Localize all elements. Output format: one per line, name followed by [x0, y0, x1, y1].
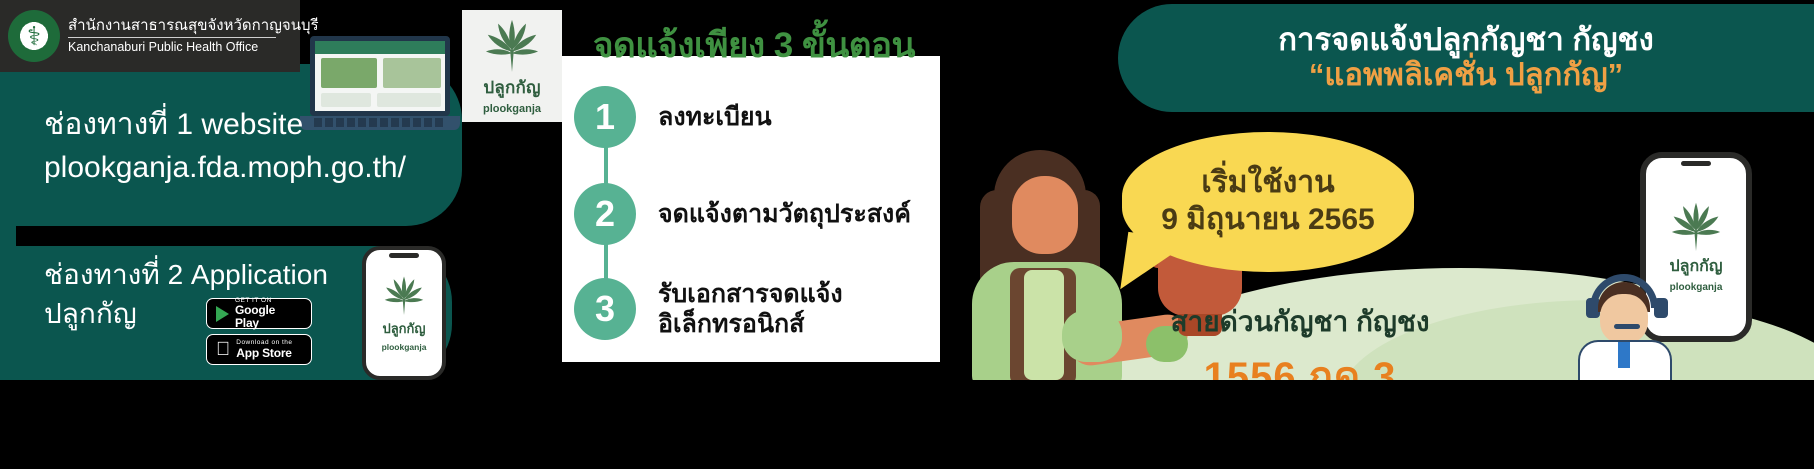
step-label-3-line-1: รับเอกสารจดแจ้ง	[658, 279, 843, 310]
laptop-webpage	[315, 41, 445, 111]
app-logo-en: plookganja	[382, 342, 427, 352]
channel-1-text: ช่องทางที่ 1 website plookganja.fda.moph…	[44, 104, 444, 189]
logo-label-th: ปลูกกัญ	[483, 74, 540, 101]
bubble-line-2: 9 มิถุนายน 2565	[1161, 202, 1374, 239]
person-shirt	[1024, 270, 1064, 380]
google-play-icon	[216, 306, 229, 322]
step-row-1: 1 ลงทะเบียน	[574, 86, 772, 148]
step-connector-2	[604, 243, 608, 281]
step-label-3-line-2: อิเล็กทรอนิกส์	[658, 309, 843, 340]
step-label-3: รับเอกสารจดแจ้ง อิเล็กทรอนิกส์	[658, 279, 843, 340]
google-play-badge[interactable]: GET IT ON Google Play	[206, 298, 312, 329]
launch-date-bubble: เริ่มใช้งาน 9 มิถุนายน 2565	[1122, 132, 1414, 272]
app-store-text: Download on the App Store	[236, 340, 292, 359]
phone-notch	[389, 253, 419, 258]
plookganja-logo-card: ปลูกกัญ plookganja	[462, 10, 562, 122]
app-logo-th: ปลูกกัญ	[382, 318, 425, 339]
right-panel-title: การจดแจ้งปลูกกัญชา กัญชง	[1278, 23, 1653, 57]
channel-2-line-2: ปลูกกัญ	[44, 294, 364, 333]
org-header-texts: สำนักงานสาธารณสุขจังหวัดกาญจนบุรี Kancha…	[68, 18, 319, 54]
org-name-en: Kanchanaburi Public Health Office	[68, 40, 319, 54]
webpage-header-band	[315, 41, 445, 54]
webpage-hero-right	[383, 58, 441, 88]
agent-face	[1600, 294, 1648, 344]
steps-title: จดแจ้งเพียง 3 ขั้นตอน	[576, 18, 932, 73]
right-panel-subtitle: “แอพพลิเคชั่น ปลูกกัญ”	[1309, 57, 1623, 93]
app-phone-mockup: ปลูกกัญ plookganja	[362, 246, 446, 380]
phone-notch	[1681, 161, 1711, 166]
agent-tie	[1618, 342, 1630, 368]
google-play-text: GET IT ON Google Play	[235, 298, 302, 330]
headset-microphone	[1614, 324, 1640, 329]
call-center-agent-icon	[1570, 272, 1690, 392]
moph-seal-icon	[8, 10, 60, 62]
google-play-big: Google Play	[235, 304, 302, 329]
person-face	[1012, 176, 1078, 254]
step-number-2: 2	[574, 183, 636, 245]
logo-label-en: plookganja	[483, 103, 541, 115]
org-name-th: สำนักงานสาธารณสุขจังหวัดกาญจนบุรี	[68, 18, 319, 35]
channel-2-text: ช่องทางที่ 2 Application ปลูกกัญ	[44, 255, 364, 333]
header-divider	[68, 37, 276, 38]
hotline-label: สายด่วนกัญชา กัญชง	[1090, 300, 1510, 344]
headset-earpiece-right	[1654, 298, 1668, 318]
cannabis-leaf-icon	[482, 18, 542, 72]
app-store-big: App Store	[236, 347, 292, 360]
bottom-black-bar	[0, 380, 1814, 469]
channel-1-url[interactable]: plookganja.fda.moph.go.th/	[44, 147, 444, 190]
cannabis-leaf-icon	[382, 275, 426, 315]
step-row-2: 2 จดแจ้งตามวัตถุประสงค์	[574, 183, 911, 245]
step-row-3: 3 รับเอกสารจดแจ้ง อิเล็กทรอนิกส์	[574, 278, 843, 340]
webpage-hero-left	[321, 58, 377, 88]
channel-2-line-1: ช่องทางที่ 2 Application	[44, 255, 364, 294]
cannabis-leaf-icon	[1668, 201, 1724, 251]
step-label-1: ลงทะเบียน	[658, 102, 772, 133]
step-number-3: 3	[574, 278, 636, 340]
right-title-panel: การจดแจ้งปลูกกัญชา กัญชง “แอพพลิเคชั่น ป…	[1118, 4, 1814, 112]
bubble-line-1: เริ่มใช้งาน	[1201, 165, 1334, 202]
app-store-badge[interactable]:  Download on the App Store	[206, 334, 312, 365]
step-connector-1	[604, 146, 608, 186]
channel-1-line-1: ช่องทางที่ 1 website	[44, 104, 444, 147]
apple-icon: 	[216, 340, 230, 359]
step-label-2: จดแจ้งตามวัตถุประสงค์	[658, 199, 911, 230]
infographic-canvas: สำนักงานสาธารณสุขจังหวัดกาญจนบุรี Kancha…	[0, 0, 1814, 469]
step-number-1: 1	[574, 86, 636, 148]
org-header-bar: สำนักงานสาธารณสุขจังหวัดกาญจนบุรี Kancha…	[0, 0, 300, 72]
